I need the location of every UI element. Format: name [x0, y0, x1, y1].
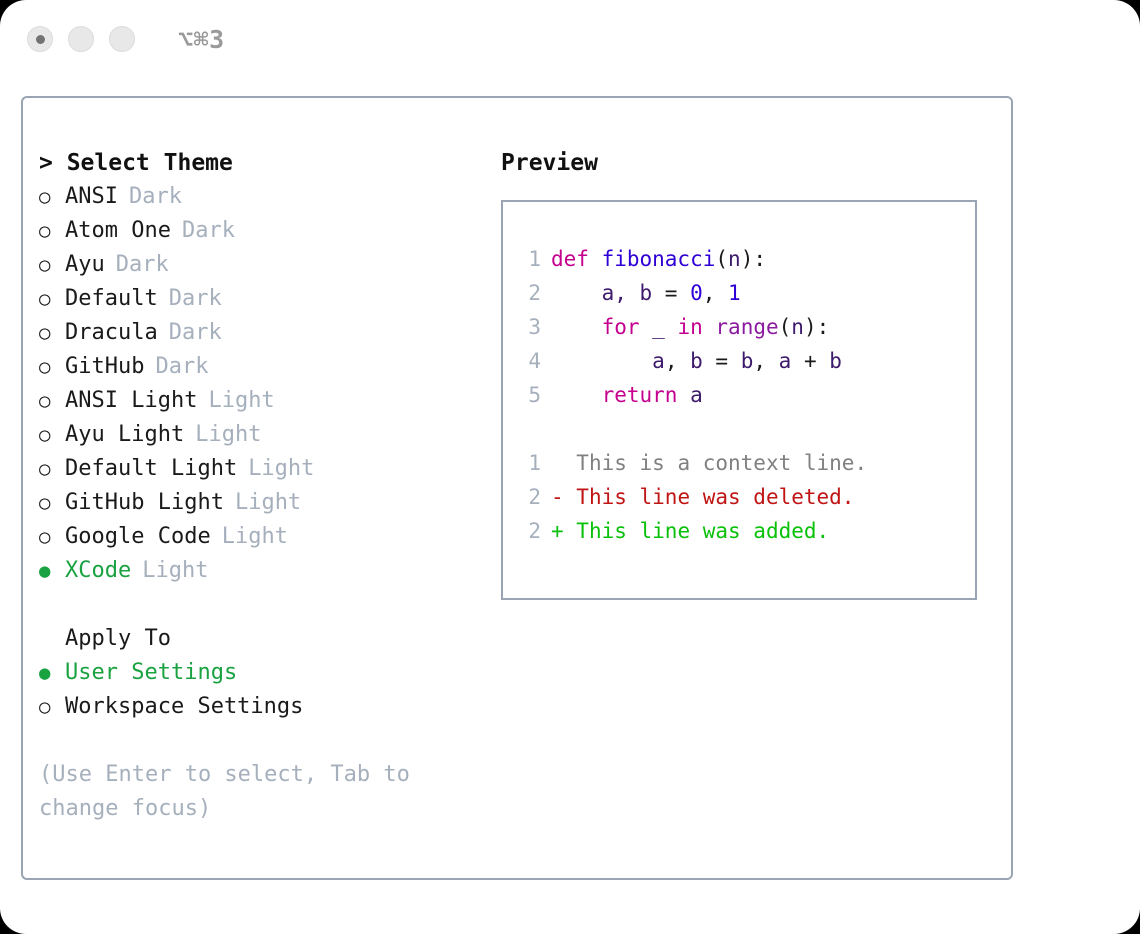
- theme-option-label: Default Light: [65, 452, 237, 486]
- theme-option-label: GitHub: [65, 350, 144, 384]
- code-token: ,: [703, 281, 728, 305]
- theme-option-label: ANSI: [65, 180, 118, 214]
- theme-option-variant: Light: [142, 554, 208, 588]
- line-number: 5: [519, 378, 541, 412]
- theme-selector-column: > Select Theme ○ANSIDark○Atom OneDark○Ay…: [39, 146, 499, 826]
- diff-text: This is a context line.: [564, 451, 867, 475]
- preview-box: 1def fibonacci(n):2 a, b = 0, 13 for _ i…: [501, 200, 977, 600]
- apply-to-option-label: User Settings: [65, 656, 237, 690]
- line-number: 3: [519, 310, 541, 344]
- code-token: n: [791, 315, 804, 339]
- code-token: range: [715, 315, 778, 339]
- line-number: 4: [519, 344, 541, 378]
- theme-option-variant: Dark: [169, 316, 222, 350]
- preview-heading: Preview: [501, 146, 1001, 180]
- code-token: (: [779, 315, 792, 339]
- theme-option-variant: Dark: [169, 282, 222, 316]
- diff-text: This line was added.: [564, 519, 830, 543]
- code-token: ):: [804, 315, 829, 339]
- theme-option-variant: Light: [248, 452, 314, 486]
- apply-to-heading: Apply To: [39, 622, 499, 656]
- code-line: 1def fibonacci(n):: [519, 242, 975, 276]
- radio-unselected-icon: ○: [39, 690, 65, 724]
- radio-selected-icon: ●: [39, 554, 65, 588]
- line-number: 1: [519, 446, 541, 480]
- theme-option-label: Atom One: [65, 214, 171, 248]
- code-token: =: [652, 281, 690, 305]
- code-sample: 1def fibonacci(n):2 a, b = 0, 13 for _ i…: [519, 242, 975, 412]
- theme-option-ansi-light[interactable]: ○ANSI LightLight: [39, 384, 499, 418]
- radio-unselected-icon: ○: [39, 214, 65, 248]
- code-token: 0: [690, 281, 703, 305]
- theme-option-github-light[interactable]: ○GitHub LightLight: [39, 486, 499, 520]
- code-line: 5 return a: [519, 378, 975, 412]
- line-number: 2: [519, 276, 541, 310]
- code-token: fibonacci: [602, 247, 716, 271]
- code-token: a, b: [602, 281, 653, 305]
- theme-option-label: Google Code: [65, 520, 211, 554]
- radio-unselected-icon: ○: [39, 520, 65, 554]
- code-token: n: [728, 247, 741, 271]
- select-theme-heading: > Select Theme: [39, 146, 499, 180]
- radio-unselected-icon: ○: [39, 486, 65, 520]
- code-token: b: [690, 349, 703, 373]
- app-window: ⌥⌘3 > Select Theme ○ANSIDark○Atom OneDar…: [0, 0, 1140, 934]
- theme-option-label: Ayu Light: [65, 418, 184, 452]
- theme-option-variant: Dark: [155, 350, 208, 384]
- line-number: 2: [519, 514, 541, 548]
- code-token: return: [602, 383, 691, 407]
- radio-unselected-icon: ○: [39, 282, 65, 316]
- code-token: in: [677, 315, 715, 339]
- preview-column: Preview 1def fibonacci(n):2 a, b = 0, 13…: [501, 146, 1001, 600]
- theme-option-xcode[interactable]: ●XCodeLight: [39, 554, 499, 588]
- radio-unselected-icon: ○: [39, 452, 65, 486]
- code-token: a: [779, 349, 792, 373]
- apply-to-option-user-settings[interactable]: ●User Settings: [39, 656, 499, 690]
- theme-option-label: Dracula: [65, 316, 158, 350]
- theme-option-ayu-light[interactable]: ○Ayu LightLight: [39, 418, 499, 452]
- code-token: ,: [753, 349, 778, 373]
- theme-option-label: Default: [65, 282, 158, 316]
- diff-line-ctx: 1 This is a context line.: [519, 446, 975, 480]
- code-token: a: [690, 383, 703, 407]
- theme-option-default[interactable]: ○DefaultDark: [39, 282, 499, 316]
- theme-option-variant: Light: [208, 384, 274, 418]
- code-token: a: [652, 349, 665, 373]
- theme-list[interactable]: ○ANSIDark○Atom OneDark○AyuDark○DefaultDa…: [39, 180, 499, 588]
- code-token: for: [602, 315, 653, 339]
- line-number: 2: [519, 480, 541, 514]
- code-line: 3 for _ in range(n):: [519, 310, 975, 344]
- radio-unselected-icon: ○: [39, 248, 65, 282]
- theme-option-ansi[interactable]: ○ANSIDark: [39, 180, 499, 214]
- radio-selected-icon: ●: [39, 656, 65, 690]
- radio-unselected-icon: ○: [39, 316, 65, 350]
- keyboard-hint: (Use Enter to select, Tab to change focu…: [39, 758, 459, 826]
- theme-option-variant: Dark: [116, 248, 169, 282]
- shortcut-label: ⌥⌘3: [178, 27, 225, 52]
- code-token: def: [551, 247, 602, 271]
- theme-option-github[interactable]: ○GitHubDark: [39, 350, 499, 384]
- theme-option-label: GitHub Light: [65, 486, 224, 520]
- radio-unselected-icon: ○: [39, 180, 65, 214]
- diff-line-del: 2- This line was deleted.: [519, 480, 975, 514]
- diff-sign: -: [551, 485, 564, 509]
- window-button-2[interactable]: [68, 26, 94, 52]
- theme-option-variant: Light: [222, 520, 288, 554]
- code-token: [665, 315, 678, 339]
- radio-unselected-icon: ○: [39, 418, 65, 452]
- diff-sign: [551, 451, 564, 475]
- code-token: [551, 315, 602, 339]
- apply-to-list[interactable]: ●User Settings○Workspace Settings: [39, 656, 499, 724]
- theme-option-label: Ayu: [65, 248, 105, 282]
- theme-option-default-light[interactable]: ○Default LightLight: [39, 452, 499, 486]
- code-token: 1: [728, 281, 741, 305]
- record-dot-icon: [36, 35, 45, 44]
- theme-option-atom-one[interactable]: ○Atom OneDark: [39, 214, 499, 248]
- code-line: 2 a, b = 0, 1: [519, 276, 975, 310]
- diff-line-add: 2+ This line was added.: [519, 514, 975, 548]
- record-button[interactable]: [27, 26, 53, 52]
- code-token: ,: [665, 349, 690, 373]
- code-line: 4 a, b = b, a + b: [519, 344, 975, 378]
- diff-text: This line was deleted.: [564, 485, 855, 509]
- radio-unselected-icon: ○: [39, 350, 65, 384]
- theme-option-label: XCode: [65, 554, 131, 588]
- spacer: [39, 588, 499, 622]
- window-button-3[interactable]: [109, 26, 135, 52]
- theme-option-ayu[interactable]: ○AyuDark: [39, 248, 499, 282]
- apply-to-option-workspace-settings[interactable]: ○Workspace Settings: [39, 690, 499, 724]
- code-token: [551, 383, 602, 407]
- spacer: [519, 412, 975, 446]
- code-token: [551, 349, 652, 373]
- code-token: b: [829, 349, 842, 373]
- code-token: b: [741, 349, 754, 373]
- diff-sample: 1 This is a context line.2- This line wa…: [519, 446, 975, 548]
- apply-to-option-label: Workspace Settings: [65, 690, 303, 724]
- code-token: +: [791, 349, 829, 373]
- theme-option-variant: Light: [235, 486, 301, 520]
- line-number: 1: [519, 242, 541, 276]
- code-token: [551, 281, 602, 305]
- main-panel: > Select Theme ○ANSIDark○Atom OneDark○Ay…: [21, 96, 1013, 880]
- theme-option-variant: Dark: [129, 180, 182, 214]
- code-token: (: [715, 247, 728, 271]
- title-bar: ⌥⌘3: [0, 0, 1140, 78]
- theme-option-label: ANSI Light: [65, 384, 197, 418]
- theme-option-google-code[interactable]: ○Google CodeLight: [39, 520, 499, 554]
- radio-unselected-icon: ○: [39, 384, 65, 418]
- code-token: =: [703, 349, 741, 373]
- code-token: _: [652, 315, 665, 339]
- theme-option-dracula[interactable]: ○DraculaDark: [39, 316, 499, 350]
- code-token: ):: [741, 247, 766, 271]
- theme-option-variant: Dark: [182, 214, 235, 248]
- diff-sign: +: [551, 519, 564, 543]
- theme-option-variant: Light: [195, 418, 261, 452]
